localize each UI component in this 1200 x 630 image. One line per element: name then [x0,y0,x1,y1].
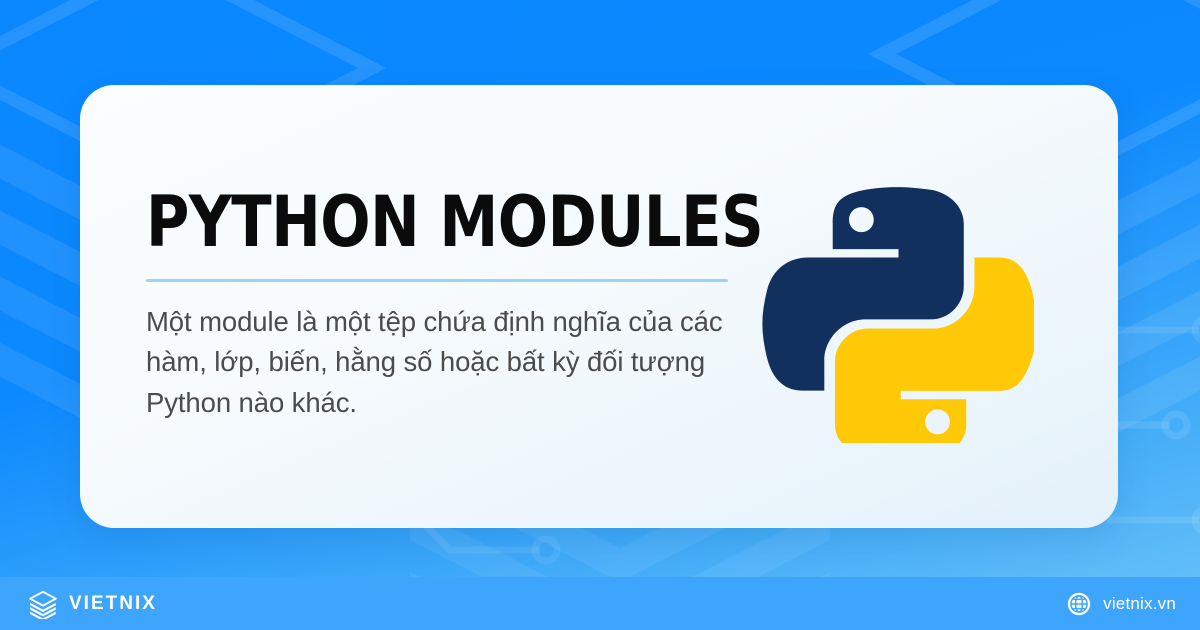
card-description: Một module là một tệp chứa định nghĩa củ… [146,302,738,424]
page-title: PYTHON MODULES [146,189,710,256]
globe-icon [1066,591,1092,617]
stacked-layers-logo-icon [28,589,58,619]
card-illustration [746,171,1056,443]
card-copy: PYTHON MODULES Một module là một tệp chứ… [146,189,746,423]
footer-bar: VIETNIX vietnix.vn [0,577,1200,630]
site-url[interactable]: vietnix.vn [1066,591,1176,617]
brand-logo[interactable]: VIETNIX [28,589,157,619]
site-url-label: vietnix.vn [1103,594,1176,614]
card-inner: PYTHON MODULES Một module là một tệp chứ… [80,85,1118,528]
brand-name: VIETNIX [69,593,157,615]
python-logo-icon [762,171,1034,443]
title-divider [146,279,728,282]
content-card: PYTHON MODULES Một module là một tệp chứ… [80,85,1118,528]
